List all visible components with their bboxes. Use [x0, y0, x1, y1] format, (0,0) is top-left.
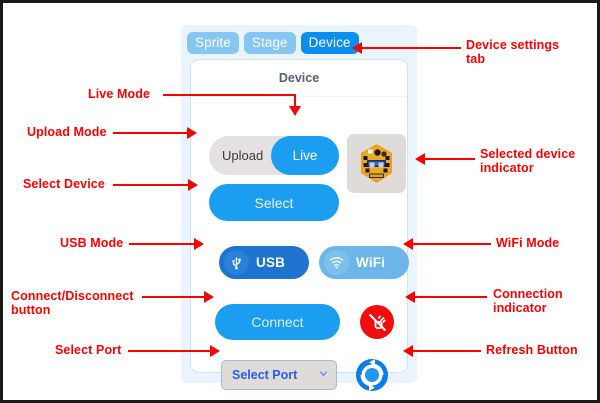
refresh-ports-button[interactable]	[353, 356, 391, 394]
annotation-wifi-mode: WiFi Mode	[496, 236, 559, 250]
panel-tabs: Sprite Stage Device	[187, 32, 359, 54]
annotation-arrow-connect	[204, 291, 214, 303]
connect-disconnect-button[interactable]: Connect	[215, 304, 340, 340]
wifi-icon	[324, 250, 349, 275]
annotation-line-select-device	[113, 184, 189, 186]
annotation-connect-disconnect: Connect/Disconnect button	[11, 289, 134, 317]
annotation-arrow-upload-mode	[187, 127, 197, 139]
select-device-button[interactable]: Select	[209, 184, 339, 221]
plug-disconnected-icon	[367, 312, 388, 333]
device-panel: Sprite Stage Device Device Upload Live	[181, 25, 417, 383]
annotation-select-port: Select Port	[55, 343, 121, 357]
selected-device-thumbnail	[347, 134, 406, 193]
annotation-usb-mode: USB Mode	[60, 236, 123, 250]
usb-icon	[224, 250, 249, 275]
annotation-line-wifi-mode	[413, 243, 491, 245]
select-port-value: Select Port	[232, 368, 297, 382]
usb-mode-label: USB	[256, 255, 285, 270]
annotation-arrow-select-device	[188, 179, 198, 191]
annotation-arrow-selected-device	[415, 153, 425, 165]
card-divider	[191, 96, 407, 97]
annotation-connection-indicator: Connection indicator	[493, 287, 563, 315]
annotation-arrow-refresh	[403, 345, 413, 357]
hexagonal-robot-board-icon	[347, 134, 406, 193]
annotation-device-settings-tab: Device settings tab	[466, 38, 559, 66]
annotation-arrow-connection-indicator	[405, 291, 415, 303]
tab-device[interactable]: Device	[301, 32, 359, 54]
card-title: Device	[191, 71, 407, 85]
annotation-arrow-wifi-mode	[403, 238, 413, 250]
wifi-mode-label: WiFi	[356, 255, 385, 270]
annotation-line-device-tab	[361, 47, 461, 49]
annotation-line-live-mode	[163, 94, 295, 96]
live-mode-option[interactable]: Live	[271, 136, 339, 175]
wifi-mode-button[interactable]: WiFi	[319, 246, 409, 279]
annotation-refresh-button: Refresh Button	[486, 343, 578, 357]
upload-live-toggle[interactable]: Upload Live	[209, 136, 339, 175]
annotation-select-device: Select Device	[23, 177, 105, 191]
annotation-arrow-device-tab	[352, 42, 362, 54]
annotation-selected-device-indicator: Selected device indicator	[480, 147, 575, 175]
annotation-upload-mode: Upload Mode	[27, 125, 107, 139]
annotation-arrow-usb-mode	[194, 238, 204, 250]
annotation-line-connect	[142, 296, 205, 298]
annotation-line-usb-mode	[129, 243, 195, 245]
chevron-down-icon	[318, 366, 329, 384]
usb-mode-button[interactable]: USB	[219, 246, 309, 279]
select-port-dropdown[interactable]: Select Port	[221, 360, 337, 390]
annotation-line-upload-mode	[113, 132, 188, 134]
annotation-line-connection-indicator	[415, 296, 487, 298]
screenshot-root: Sprite Stage Device Device Upload Live	[0, 0, 600, 403]
annotation-arrow-live-mode	[289, 106, 301, 116]
annotation-live-mode: Live Mode	[88, 87, 150, 101]
connection-status-indicator	[360, 305, 394, 339]
upload-mode-option[interactable]: Upload	[222, 136, 263, 175]
annotation-line-selected-device	[425, 158, 475, 160]
annotation-line-select-port	[128, 350, 211, 352]
annotation-arrow-select-port	[210, 345, 220, 357]
tab-sprite[interactable]: Sprite	[187, 32, 239, 54]
annotation-line-refresh	[413, 350, 481, 352]
tab-stage[interactable]: Stage	[244, 32, 296, 54]
refresh-circular-arrows-icon	[354, 357, 390, 393]
